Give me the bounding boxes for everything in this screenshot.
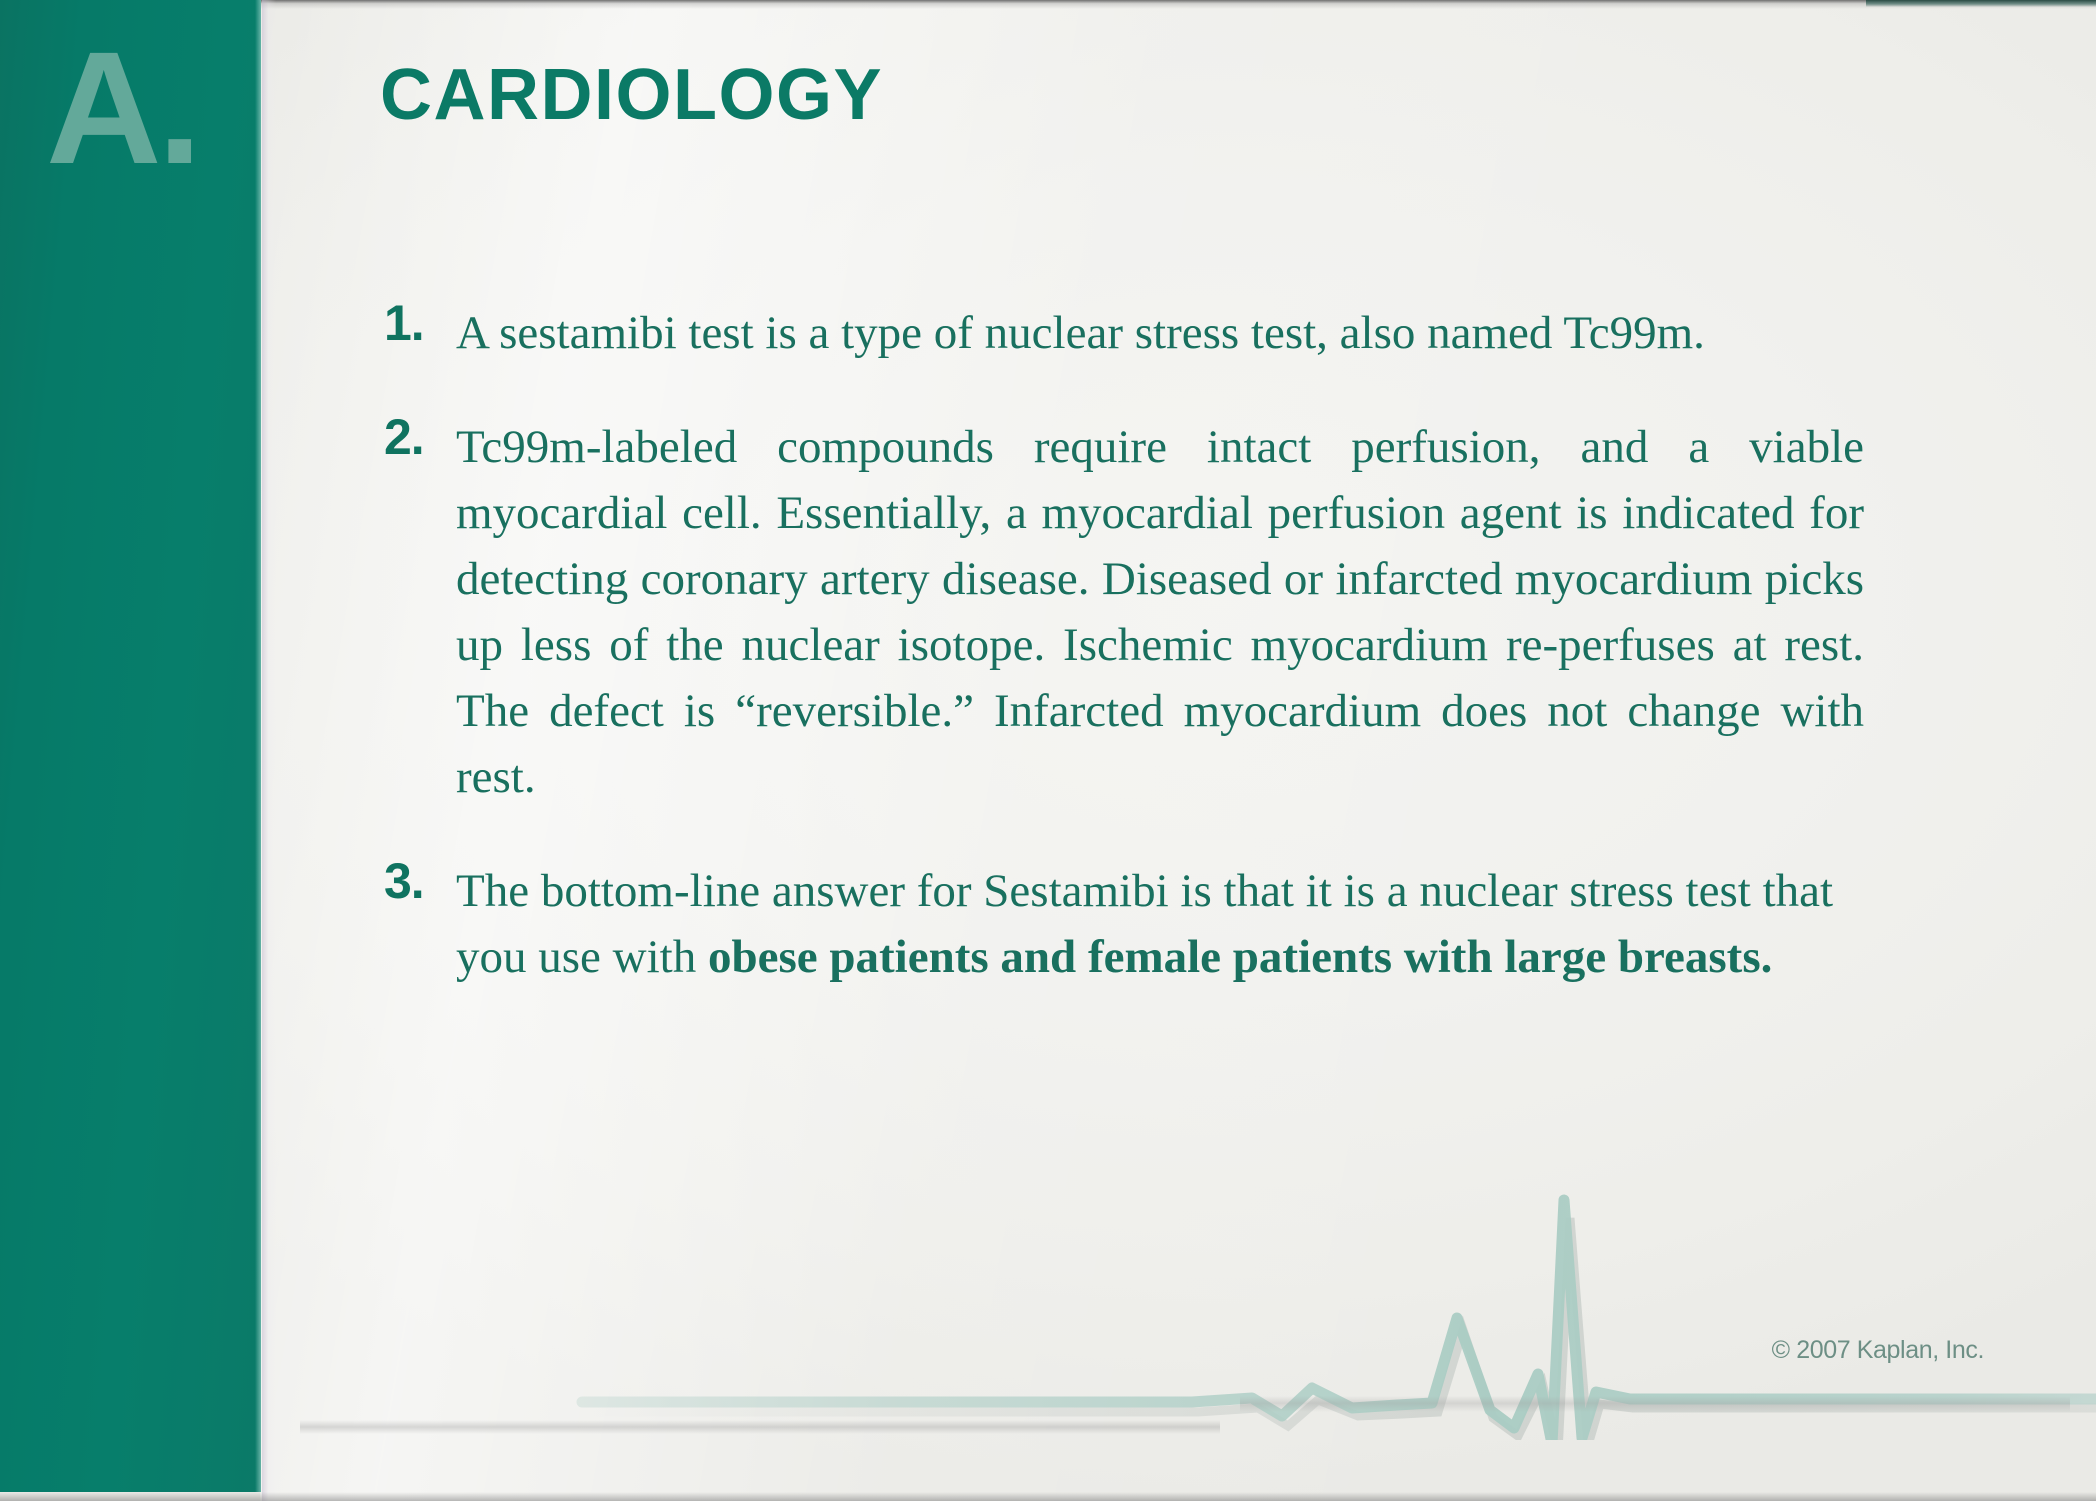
list-item-text-emphasis: obese patients and female patients with … [708,931,1772,983]
scan-bottom-edge [0,1492,2096,1501]
page-fold-shadow [262,0,276,1501]
answer-letter-mark: A. [46,28,198,188]
list-item-text: Tc99m-labeled compounds require intact p… [456,414,1864,810]
numbered-list: 1. A sestamibi test is a type of nuclear… [384,300,1864,990]
copyright-notice: © 2007 Kaplan, Inc. [1772,1336,1984,1365]
list-item: 2. Tc99m-labeled compounds require intac… [384,414,1864,810]
list-item-text: The bottom-line answer for Sestamibi is … [456,858,1864,990]
list-item: 3. The bottom-line answer for Sestamibi … [384,858,1864,990]
ecg-waveform-icon [552,1180,2096,1440]
main-content-area: CARDIOLOGY 1. A sestamibi test is a type… [276,0,2096,1501]
scanned-slide-page: A. CARDIOLOGY 1. A sestamibi test is a t… [0,0,2096,1501]
list-item-number: 1. [384,294,424,352]
list-item-text: A sestamibi test is a type of nuclear st… [456,300,1864,366]
list-item: 1. A sestamibi test is a type of nuclear… [384,300,1864,366]
list-item-number: 2. [384,408,424,466]
page-title: CARDIOLOGY [380,54,883,136]
list-item-number: 3. [384,852,424,910]
left-green-sidebar: A. [0,0,261,1492]
